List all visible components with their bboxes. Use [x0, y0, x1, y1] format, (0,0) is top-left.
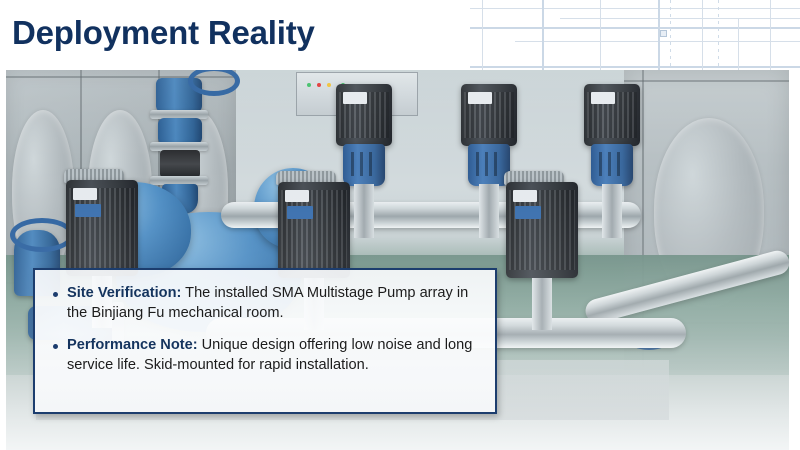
gate-valve-handwheel-left-a	[10, 218, 74, 252]
bullet-marker-icon	[53, 344, 58, 349]
page-title: Deployment Reality	[12, 14, 315, 52]
bullet-label: Performance Note:	[67, 337, 198, 353]
bullet-text: Site Verification: The installed SMA Mul…	[67, 284, 477, 323]
rubber-expansion-joint	[160, 150, 200, 178]
callout-box: Site Verification: The installed SMA Mul…	[33, 268, 497, 414]
bullet-text: Performance Note: Unique design offering…	[67, 336, 477, 375]
bullet-label: Site Verification:	[67, 285, 181, 301]
blueprint-grid-watermark	[470, 0, 800, 72]
list-item: Site Verification: The installed SMA Mul…	[51, 284, 477, 323]
bullet-marker-icon	[53, 292, 58, 297]
list-item: Performance Note: Unique design offering…	[51, 336, 477, 375]
slide-canvas: Deployment Reality	[0, 0, 800, 450]
valve-stack-mid	[158, 118, 202, 144]
